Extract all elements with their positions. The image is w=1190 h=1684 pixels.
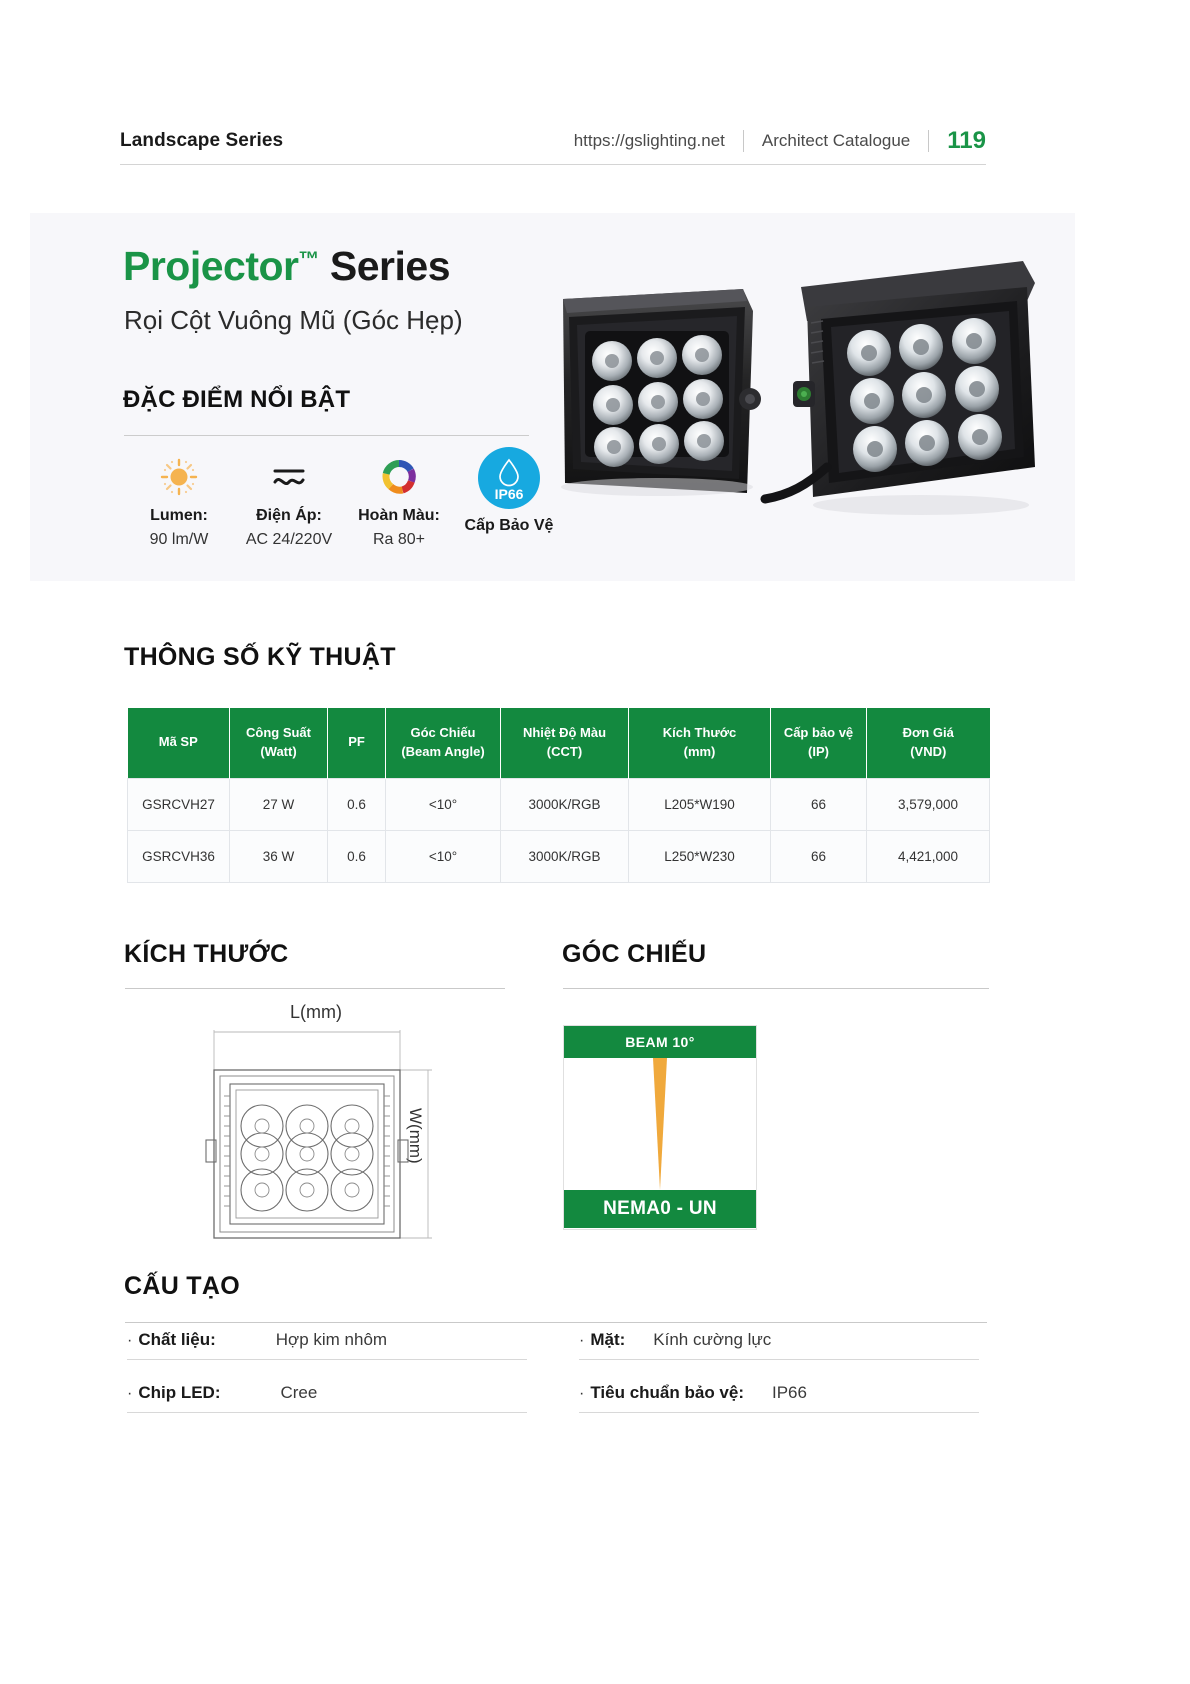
header-meta: https://gslighting.net Architect Catalog… (574, 127, 986, 155)
color-wheel-icon (344, 451, 454, 503)
feature-list: Lumen: 90 lm/W Điện Áp: AC 24/220V (124, 451, 564, 549)
col-ma-sp-l1: Mã SP (159, 734, 198, 749)
cell-goc-chieu: <10° (386, 830, 501, 882)
col-goc-chieu: Góc Chiếu (Beam Angle) (386, 708, 501, 778)
construction-value: Hợp kim nhôm (216, 1330, 486, 1350)
col-cong-suat-l1: Công Suất (246, 725, 311, 740)
hero-banner: Projector™ Series Rọi Cột Vuông Mũ (Góc … (30, 213, 1075, 581)
page-number: 119 (929, 127, 986, 155)
product-title-main: Projector (123, 243, 299, 289)
feature-lumen-value: 90 lm/W (124, 531, 234, 549)
col-pf: PF (328, 708, 386, 778)
construction-item-face: · Mặt: Kính cường lực (579, 1330, 979, 1360)
col-cct: Nhiệt Độ Màu (CCT) (501, 708, 629, 778)
features-rule (124, 435, 529, 436)
cell-pf: 0.6 (328, 830, 386, 882)
cell-goc-chieu: <10° (386, 778, 501, 830)
sun-icon (124, 451, 234, 503)
col-don-gia-l1: Đơn Giá (903, 725, 954, 740)
website-url[interactable]: https://gslighting.net (574, 131, 743, 151)
construction-col-right: · Mặt: Kính cường lực · Tiêu chuẩn bảo v… (579, 1330, 979, 1436)
catalogue-label: Architect Catalogue (744, 131, 928, 151)
construction-key: Mặt: (590, 1330, 625, 1350)
col-cong-suat: Công Suất (Watt) (230, 708, 328, 778)
ip-rating-text: IP66 (478, 486, 540, 502)
bullet-icon: · (127, 1385, 132, 1403)
cell-ma-sp: GSRCVH27 (128, 778, 230, 830)
col-pf-l1: PF (348, 734, 365, 749)
beam-cone-area (564, 1058, 756, 1190)
bullet-icon: · (579, 1385, 584, 1403)
product-title: Projector™ Series (123, 243, 450, 290)
beam-cone-icon (653, 1058, 667, 1190)
beam-diagram: BEAM 10° NEMA0 - UN (563, 1025, 757, 1230)
feature-cri-value: Ra 80+ (344, 531, 454, 549)
construction-key: Tiêu chuẩn bảo vệ: (590, 1383, 744, 1403)
bullet-icon: · (127, 1332, 132, 1350)
table-header-row: Mã SP Công Suất (Watt) PF Góc Chiếu (Bea… (128, 708, 990, 778)
cell-ip: 66 (771, 830, 867, 882)
feature-cri-label: Hoàn Màu: (344, 507, 454, 525)
product-title-suffix: Series (319, 243, 450, 289)
col-goc-chieu-l2: (Beam Angle) (401, 744, 484, 759)
col-ip-l2: (IP) (808, 744, 829, 759)
cell-don-gia: 3,579,000 (867, 778, 990, 830)
construction-item-chip: · Chip LED: Cree (127, 1383, 527, 1413)
trademark-symbol: ™ (299, 248, 320, 271)
product-subtitle: Rọi Cột Vuông Mũ (Góc Hẹp) (124, 305, 463, 336)
col-ip: Cấp bảo vệ (IP) (771, 708, 867, 778)
construction-section-title: CẤU TẠO (124, 1272, 240, 1301)
beam-angle-badge: BEAM 10° (564, 1026, 756, 1058)
cell-cong-suat: 27 W (230, 778, 328, 830)
construction-key: Chip LED: (138, 1383, 220, 1403)
col-goc-chieu-l1: Góc Chiếu (410, 725, 475, 740)
cell-ip: 66 (771, 778, 867, 830)
construction-key: Chất liệu: (138, 1330, 215, 1350)
col-don-gia-l2: (VND) (910, 744, 946, 759)
cell-kich-thuoc: L250*W230 (629, 830, 771, 882)
features-heading: ĐẶC ĐIỂM NỔI BẬT (123, 386, 350, 414)
cell-cong-suat: 36 W (230, 830, 328, 882)
col-ma-sp: Mã SP (128, 708, 230, 778)
bullet-icon: · (579, 1332, 584, 1350)
cell-cct: 3000K/RGB (501, 830, 629, 882)
series-title: Landscape Series (120, 130, 283, 152)
construction-item-material: · Chất liệu: Hợp kim nhôm (127, 1330, 527, 1360)
cell-cct: 3000K/RGB (501, 778, 629, 830)
col-cct-l1: Nhiệt Độ Màu (523, 725, 606, 740)
construction-col-left: · Chất liệu: Hợp kim nhôm · Chip LED: Cr… (127, 1330, 527, 1436)
beam-section-title: GÓC CHIẾU (562, 940, 706, 969)
ac-voltage-icon (234, 451, 344, 503)
dimensions-section-title: KÍCH THƯỚC (124, 940, 289, 969)
construction-value: IP66 (744, 1383, 979, 1403)
page-header: Landscape Series https://gslighting.net … (120, 118, 986, 164)
construction-rule (125, 1322, 987, 1323)
cell-ma-sp: GSRCVH36 (128, 830, 230, 882)
feature-lumen: Lumen: 90 lm/W (124, 451, 234, 549)
feature-voltage-label: Điện Áp: (234, 507, 344, 525)
feature-voltage-value: AC 24/220V (234, 531, 344, 549)
header-rule (120, 164, 986, 165)
feature-voltage: Điện Áp: AC 24/220V (234, 451, 344, 549)
construction-value: Kính cường lực (625, 1330, 863, 1350)
table-row: GSRCVH27 27 W 0.6 <10° 3000K/RGB L205*W1… (128, 778, 990, 830)
product-photo (541, 253, 1051, 553)
catalogue-page: Landscape Series https://gslighting.net … (0, 0, 1190, 1684)
beam-nema-badge: NEMA0 - UN (564, 1190, 756, 1228)
cell-kich-thuoc: L205*W190 (629, 778, 771, 830)
dimensions-rule (125, 988, 505, 989)
construction-value: Cree (220, 1383, 490, 1403)
cell-don-gia: 4,421,000 (867, 830, 990, 882)
ip-rating-icon: IP66 (478, 447, 540, 509)
spec-table: Mã SP Công Suất (Watt) PF Góc Chiếu (Bea… (127, 708, 990, 883)
beam-rule (563, 988, 989, 989)
table-row: GSRCVH36 36 W 0.6 <10° 3000K/RGB L250*W2… (128, 830, 990, 882)
col-ip-l1: Cấp bảo vệ (784, 725, 853, 740)
cell-pf: 0.6 (328, 778, 386, 830)
spec-section-title: THÔNG SỐ KỸ THUẬT (124, 643, 396, 672)
col-cct-l2: (CCT) (547, 744, 582, 759)
feature-lumen-label: Lumen: (124, 507, 234, 525)
dimension-drawing (200, 1000, 500, 1250)
feature-cri: Hoàn Màu: Ra 80+ (344, 451, 454, 549)
col-kich-thuoc: Kích Thước (mm) (629, 708, 771, 778)
col-kich-thuoc-l2: (mm) (684, 744, 716, 759)
col-don-gia: Đơn Giá (VND) (867, 708, 990, 778)
col-kich-thuoc-l1: Kích Thước (663, 725, 737, 740)
construction-item-protection: · Tiêu chuẩn bảo vệ: IP66 (579, 1383, 979, 1413)
col-cong-suat-l2: (Watt) (260, 744, 296, 759)
